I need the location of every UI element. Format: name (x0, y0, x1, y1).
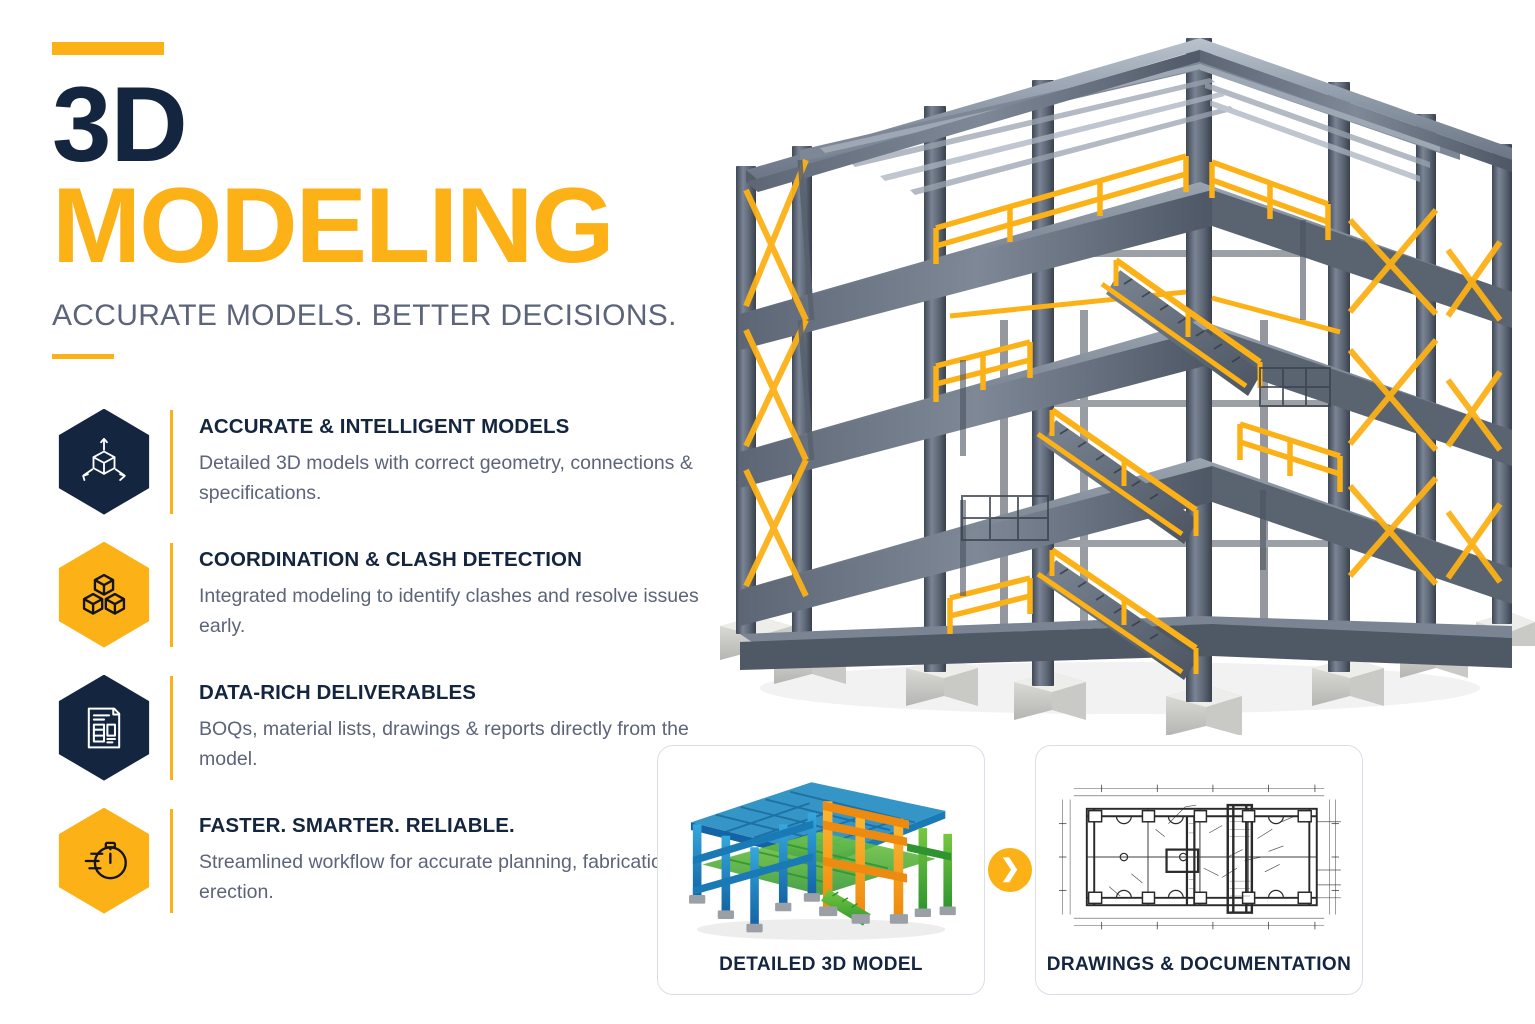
feature-icon-wrap (52, 409, 156, 515)
feature-title: DATA-RICH DELIVERABLES (199, 681, 700, 705)
deliverable-cards: DETAILED 3D MODEL ❯ (657, 745, 1363, 995)
feature-divider (170, 809, 173, 913)
stacked-cubes-icon (56, 542, 152, 648)
card-detailed-3d-model[interactable]: DETAILED 3D MODEL (657, 745, 985, 995)
feature-text: DATA-RICH DELIVERABLES BOQs, material li… (199, 681, 700, 774)
subtitle-accent-bar (52, 354, 114, 359)
colored-3d-steel-model-icon (668, 758, 974, 954)
page-title-line1: 3D (52, 75, 700, 173)
feature-divider (170, 543, 173, 647)
page-subtitle: ACCURATE MODELS. BETTER DECISIONS. (52, 299, 700, 333)
feature-divider (170, 410, 173, 514)
feature-description: Detailed 3D models with correct geometry… (199, 448, 700, 508)
page-title-line2: MODELING (52, 175, 700, 277)
top-accent-bar (52, 42, 164, 55)
feature-divider (170, 676, 173, 780)
left-content-panel: 3D MODELING ACCURATE MODELS. BETTER DECI… (0, 0, 700, 1024)
feature-description: Streamlined workflow for accurate planni… (199, 847, 700, 907)
fast-stopwatch-icon (56, 808, 152, 914)
feature-text: COORDINATION & CLASH DETECTION Integrate… (199, 548, 700, 641)
blueprint-drawing-icon (1046, 758, 1352, 954)
feature-icon-wrap (52, 808, 156, 914)
feature-list: ACCURATE & INTELLIGENT MODELS Detailed 3… (52, 395, 700, 927)
feature-item-faster-smarter: FASTER. SMARTER. RELIABLE. Streamlined w… (52, 794, 700, 927)
feature-title: ACCURATE & INTELLIGENT MODELS (199, 415, 700, 439)
feature-title: FASTER. SMARTER. RELIABLE. (199, 814, 700, 838)
feature-description: BOQs, material lists, drawings & reports… (199, 714, 700, 774)
cube-axes-icon (56, 409, 152, 515)
steel-frame-building-render (700, 20, 1535, 735)
feature-item-data-rich-deliverables: DATA-RICH DELIVERABLES BOQs, material li… (52, 661, 700, 794)
feature-item-accurate-models: ACCURATE & INTELLIGENT MODELS Detailed 3… (52, 395, 700, 528)
card-label: DRAWINGS & DOCUMENTATION (1047, 954, 1351, 994)
card-arrow-wrap: ❯ (985, 745, 1035, 995)
feature-title: COORDINATION & CLASH DETECTION (199, 548, 700, 572)
chevron-right-icon[interactable]: ❯ (988, 848, 1032, 892)
card-drawings-documentation[interactable]: DRAWINGS & DOCUMENTATION (1035, 745, 1363, 995)
feature-item-clash-detection: COORDINATION & CLASH DETECTION Integrate… (52, 528, 700, 661)
feature-description: Integrated modeling to identify clashes … (199, 581, 700, 641)
card-label: DETAILED 3D MODEL (719, 954, 923, 994)
feature-icon-wrap (52, 675, 156, 781)
document-report-icon (56, 675, 152, 781)
feature-text: ACCURATE & INTELLIGENT MODELS Detailed 3… (199, 415, 700, 508)
feature-icon-wrap (52, 542, 156, 648)
feature-text: FASTER. SMARTER. RELIABLE. Streamlined w… (199, 814, 700, 907)
